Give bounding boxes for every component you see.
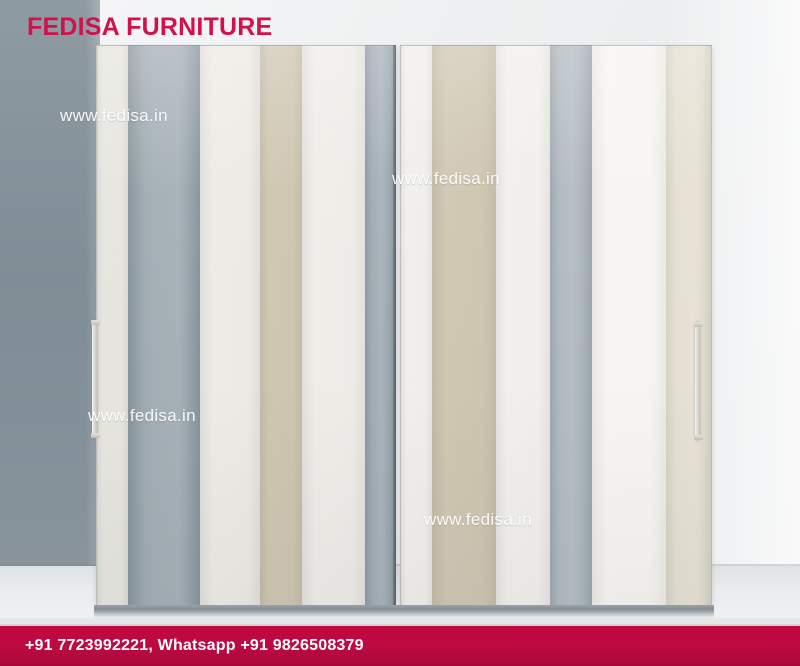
right-door-handle[interactable] (695, 322, 700, 440)
left-door-right-edge (393, 45, 396, 605)
stripe-cream (96, 45, 128, 605)
stripe-white3 (592, 45, 666, 605)
right-door-right-edge (710, 45, 712, 605)
wardrobe-base-plinth (94, 605, 714, 613)
stripe-beige (432, 45, 496, 605)
left-wall (0, 0, 100, 618)
left-door-top-edge (96, 45, 396, 46)
stripe-beige2 (666, 45, 712, 605)
stripe-gray (550, 45, 592, 605)
right-door-left-edge (400, 45, 402, 605)
stripe-white (400, 45, 432, 605)
product-image-canvas: www.fedisa.in www.fedisa.in www.fedisa.i… (0, 0, 800, 666)
left-door-handle[interactable] (92, 320, 97, 438)
right-door-top-edge (400, 45, 712, 46)
stripe-gray2 (365, 45, 396, 605)
right-sliding-door[interactable] (400, 45, 712, 605)
brand-title: FEDISA FURNITURE (27, 13, 272, 42)
left-sliding-door[interactable] (96, 45, 396, 605)
stripe-gray (128, 45, 200, 605)
contact-banner: +91 7723992221, Whatsapp +91 9826508379 (0, 626, 800, 666)
contact-phone-text: +91 7723992221, Whatsapp +91 9826508379 (0, 637, 364, 655)
stripe-white (200, 45, 260, 605)
stripe-beige (260, 45, 302, 605)
sliding-door-wardrobe (96, 45, 712, 613)
stripe-white2 (496, 45, 550, 605)
stripe-white2 (302, 45, 365, 605)
wardrobe-base-shadow (94, 613, 714, 618)
